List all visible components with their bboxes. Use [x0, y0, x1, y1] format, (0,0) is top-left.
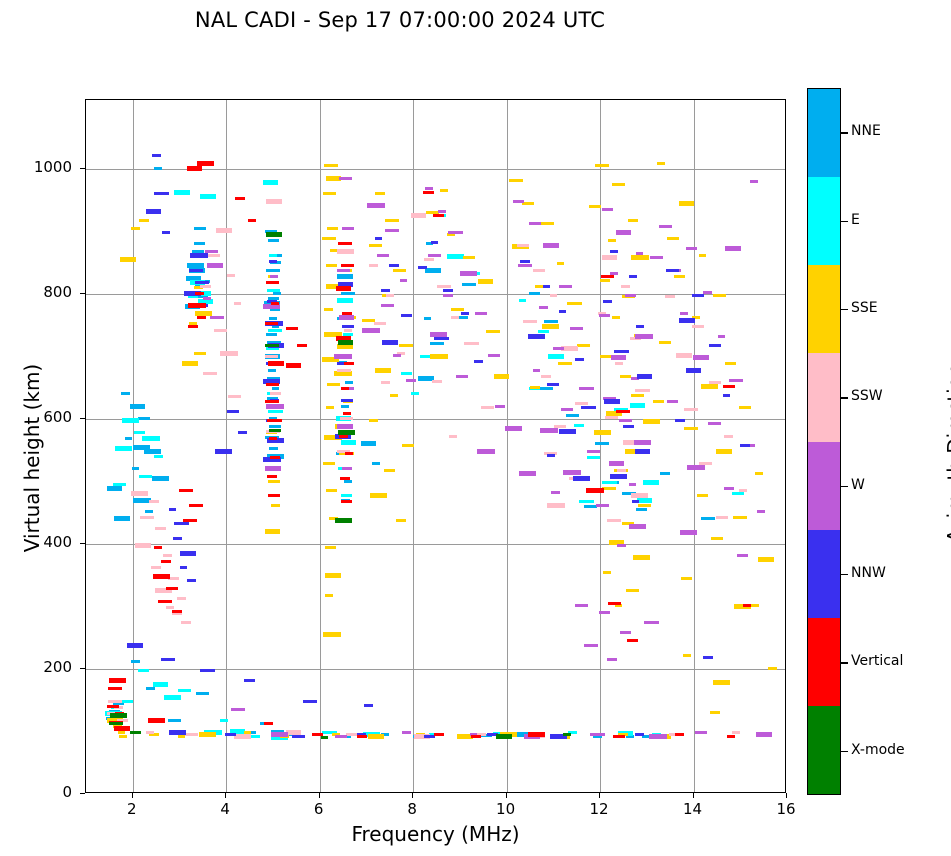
- echo-point: [131, 660, 140, 663]
- echo-point: [179, 489, 193, 492]
- echo-point: [733, 516, 747, 519]
- y-axis-tick: [80, 418, 85, 419]
- echo-point: [182, 361, 198, 366]
- echo-point: [268, 494, 280, 497]
- echo-point: [264, 722, 273, 725]
- echo-point: [370, 493, 387, 498]
- echo-point: [579, 387, 594, 390]
- echo-point: [342, 325, 354, 328]
- colorbar-segment-ssw: [808, 353, 840, 441]
- echo-point: [396, 519, 406, 522]
- echo-point: [220, 719, 228, 722]
- echo-point: [341, 292, 355, 295]
- echo-point: [113, 483, 126, 486]
- echo-point: [703, 656, 713, 659]
- colorbar-tick: [841, 662, 848, 663]
- echo-point: [589, 205, 601, 208]
- colorbar-tick: [841, 309, 848, 310]
- echo-point: [269, 429, 281, 432]
- echo-point: [620, 631, 631, 634]
- echo-point: [434, 337, 449, 340]
- echo-point: [140, 516, 154, 519]
- echo-point: [461, 312, 469, 315]
- echo-point: [228, 395, 241, 398]
- echo-point: [194, 227, 206, 230]
- echo-point: [609, 461, 624, 466]
- colorbar-label-e: E: [851, 212, 860, 228]
- echo-point: [631, 394, 644, 397]
- echo-point: [362, 328, 380, 333]
- echo-point: [732, 492, 744, 495]
- x-axis-tick-label: 12: [579, 800, 619, 818]
- echo-point: [119, 735, 127, 738]
- echo-point: [631, 255, 649, 260]
- echo-point: [649, 734, 667, 739]
- echo-point: [543, 285, 550, 288]
- echo-point: [369, 419, 378, 422]
- x-axis-title: Frequency (MHz): [85, 822, 786, 846]
- scatter-canvas: [86, 100, 785, 792]
- colorbar-segment-nnw: [808, 530, 840, 618]
- echo-point: [406, 379, 416, 382]
- echo-point: [675, 733, 684, 736]
- echo-point: [723, 394, 730, 397]
- echo-point: [227, 410, 239, 413]
- echo-point: [399, 344, 413, 347]
- echo-point: [345, 452, 353, 455]
- echo-point: [474, 360, 483, 363]
- echo-point: [336, 286, 351, 291]
- azimuth-colorbar: [807, 88, 841, 795]
- echo-point: [716, 449, 732, 454]
- echo-point: [602, 481, 617, 484]
- echo-point: [326, 264, 337, 267]
- echo-point: [265, 355, 278, 358]
- echo-point: [145, 510, 153, 513]
- echo-point: [666, 269, 679, 272]
- echo-point: [268, 480, 280, 483]
- echo-point: [166, 587, 178, 590]
- echo-point: [695, 731, 707, 734]
- echo-point: [180, 566, 187, 569]
- echo-point: [323, 192, 336, 195]
- echo-point: [434, 733, 444, 736]
- echo-point: [713, 294, 726, 297]
- echo-point: [601, 275, 614, 278]
- echo-point: [528, 334, 545, 339]
- echo-point: [635, 449, 650, 454]
- echo-point: [755, 472, 763, 475]
- echo-point: [238, 431, 247, 434]
- echo-point: [108, 687, 122, 690]
- echo-point: [603, 571, 611, 574]
- echo-point: [563, 470, 581, 475]
- echo-point: [424, 258, 434, 261]
- echo-point: [448, 231, 463, 234]
- echo-point: [189, 504, 203, 507]
- echo-point: [675, 419, 685, 422]
- echo-point: [107, 705, 119, 708]
- echo-point: [161, 560, 171, 563]
- echo-point: [321, 736, 328, 739]
- echo-point: [683, 654, 691, 657]
- echo-point: [268, 329, 282, 332]
- echo-point: [600, 279, 610, 282]
- echo-point: [341, 387, 349, 390]
- echo-point: [337, 274, 353, 279]
- echo-point: [194, 352, 206, 355]
- echo-point: [575, 358, 584, 361]
- echo-point: [153, 682, 168, 687]
- colorbar-tick: [841, 751, 848, 752]
- echo-point: [737, 554, 748, 557]
- echo-point: [267, 419, 282, 422]
- echo-point: [303, 700, 317, 703]
- echo-point: [729, 379, 743, 382]
- echo-point: [334, 354, 352, 359]
- echo-point: [402, 444, 414, 447]
- echo-point: [220, 351, 238, 356]
- echo-point: [623, 425, 634, 428]
- echo-point: [381, 304, 394, 307]
- echo-point: [586, 488, 604, 493]
- echo-point: [146, 687, 155, 690]
- echo-point: [411, 213, 426, 218]
- echo-point: [679, 201, 694, 206]
- echo-point: [541, 375, 551, 378]
- echo-point: [451, 308, 464, 311]
- echo-point: [739, 489, 747, 492]
- echo-point: [643, 419, 660, 424]
- echo-point: [268, 239, 279, 242]
- chart-title: NAL CADI - Sep 17 07:00:00 2024 UTC: [0, 8, 800, 32]
- echo-point: [603, 300, 612, 303]
- echo-point: [326, 406, 334, 409]
- echo-point: [727, 735, 735, 738]
- y-axis-tick: [80, 168, 85, 169]
- echo-point: [659, 341, 671, 344]
- echo-point: [134, 431, 145, 434]
- echo-point: [337, 249, 354, 254]
- echo-point: [740, 444, 750, 447]
- echo-point: [341, 399, 353, 402]
- echo-point: [463, 256, 475, 259]
- echo-point: [146, 731, 154, 734]
- echo-point: [400, 279, 407, 282]
- echo-point: [628, 219, 638, 222]
- echo-point: [326, 489, 337, 492]
- echo-point: [120, 257, 136, 262]
- x-axis-tick-label: 2: [112, 800, 152, 818]
- echo-point: [711, 537, 723, 540]
- echo-point: [263, 180, 278, 185]
- echo-point: [440, 189, 448, 192]
- echo-point: [758, 557, 774, 562]
- echo-point: [533, 269, 545, 272]
- echo-point: [644, 621, 659, 624]
- echo-point: [164, 695, 181, 700]
- echo-point: [551, 491, 560, 494]
- echo-point: [114, 516, 130, 521]
- echo-point: [297, 344, 307, 347]
- echo-point: [382, 340, 398, 345]
- echo-point: [269, 254, 277, 257]
- echo-point: [343, 412, 351, 415]
- echo-point: [268, 410, 283, 413]
- y-axis-tick-label: 1000: [0, 158, 72, 176]
- echo-point: [142, 436, 160, 441]
- echo-point: [152, 154, 161, 157]
- echo-point: [494, 374, 509, 379]
- echo-point: [638, 504, 651, 507]
- echo-point: [438, 210, 446, 213]
- echo-point: [339, 315, 354, 320]
- echo-point: [271, 732, 288, 737]
- echo-point: [344, 362, 354, 365]
- echo-point: [693, 355, 709, 360]
- echo-point: [372, 462, 380, 465]
- colorbar-label-x-mode: X-mode: [851, 742, 905, 758]
- echo-point: [114, 726, 130, 731]
- echo-point: [135, 543, 151, 548]
- y-axis-tick-label: 400: [0, 533, 72, 551]
- echo-point: [199, 732, 216, 737]
- echo-point: [650, 256, 663, 259]
- colorbar-label-nne: NNE: [851, 123, 881, 139]
- echo-point: [460, 271, 477, 276]
- echo-point: [268, 361, 284, 366]
- colorbar-tick: [841, 397, 848, 398]
- echo-point: [335, 518, 352, 523]
- y-axis-tick-label: 200: [0, 658, 72, 676]
- echo-point: [616, 410, 630, 413]
- echo-point: [267, 289, 280, 292]
- echo-point: [377, 254, 389, 257]
- echo-point: [636, 508, 647, 511]
- echo-point: [610, 250, 618, 253]
- echo-point: [163, 554, 172, 557]
- echo-point: [390, 394, 398, 397]
- echo-point: [108, 700, 122, 703]
- echo-point: [561, 346, 578, 351]
- echo-point: [286, 363, 301, 368]
- echo-point: [270, 275, 278, 278]
- echo-point: [659, 225, 672, 228]
- echo-point: [674, 275, 685, 278]
- echo-point: [269, 447, 278, 450]
- y-axis-tick-label: 800: [0, 283, 72, 301]
- echo-point: [637, 374, 652, 379]
- colorbar-label-sse: SSE: [851, 300, 878, 316]
- echo-point: [425, 187, 433, 190]
- echo-point: [266, 269, 280, 272]
- echo-point: [203, 372, 217, 375]
- echo-point: [338, 430, 355, 435]
- echo-point: [138, 417, 150, 420]
- echo-point: [177, 597, 186, 600]
- echo-point: [180, 551, 196, 556]
- echo-point: [188, 325, 198, 328]
- echo-point: [617, 469, 626, 472]
- echo-point: [132, 467, 139, 470]
- echo-point: [605, 416, 618, 419]
- echo-point: [341, 440, 356, 445]
- echo-point: [595, 442, 609, 445]
- echo-point: [710, 711, 720, 714]
- echo-point: [325, 573, 341, 578]
- echo-point: [542, 324, 559, 329]
- x-axis-tick: [132, 793, 133, 798]
- x-axis-tick: [786, 793, 787, 798]
- echo-point: [342, 312, 352, 315]
- echo-point: [505, 426, 522, 431]
- echo-point: [561, 408, 573, 411]
- gridline-horizontal: [86, 669, 785, 670]
- echo-point: [115, 446, 132, 451]
- echo-point: [271, 504, 280, 507]
- echo-point: [462, 283, 476, 286]
- echo-point: [368, 734, 384, 739]
- echo-point: [529, 222, 541, 225]
- echo-point: [614, 350, 629, 353]
- echo-point: [687, 465, 705, 470]
- echo-point: [430, 354, 448, 359]
- echo-point: [660, 472, 670, 475]
- echo-point: [271, 302, 279, 305]
- echo-point: [634, 440, 651, 445]
- echo-point: [553, 347, 564, 350]
- colorbar-label-vertical: Vertical: [851, 653, 903, 669]
- echo-point: [632, 500, 639, 503]
- echo-point: [559, 429, 576, 434]
- echo-point: [265, 400, 279, 403]
- echo-point: [381, 289, 390, 292]
- echo-point: [344, 480, 352, 483]
- echo-point: [684, 427, 698, 430]
- echo-point: [443, 294, 453, 297]
- echo-point: [697, 494, 708, 497]
- echo-point: [227, 274, 235, 277]
- echo-point: [265, 344, 279, 347]
- echo-point: [200, 285, 211, 288]
- echo-point: [131, 491, 148, 496]
- x-axis-tick: [599, 793, 600, 798]
- echo-point: [424, 317, 431, 320]
- echo-point: [615, 362, 623, 365]
- echo-point: [547, 454, 555, 457]
- echo-point: [577, 344, 590, 347]
- echo-point: [401, 314, 412, 317]
- colorbar-label-ssw: SSW: [851, 388, 883, 404]
- echo-point: [708, 422, 721, 425]
- echo-point: [566, 414, 579, 417]
- echo-point: [599, 611, 610, 614]
- echo-point: [187, 579, 196, 582]
- echo-point: [533, 369, 540, 372]
- echo-point: [385, 229, 399, 232]
- echo-point: [225, 733, 236, 736]
- echo-point: [579, 500, 594, 503]
- echo-point: [699, 254, 706, 257]
- echo-point: [381, 381, 390, 384]
- echo-point: [428, 254, 441, 257]
- echo-point: [248, 219, 256, 222]
- echo-point: [430, 332, 447, 337]
- x-axis-tick-label: 4: [205, 800, 245, 818]
- echo-point: [530, 386, 540, 389]
- echo-point: [486, 330, 500, 333]
- x-axis-tick-label: 14: [673, 800, 713, 818]
- echo-point: [196, 692, 209, 695]
- echo-point: [629, 275, 637, 278]
- echo-point: [692, 325, 704, 328]
- echo-point: [559, 310, 566, 313]
- echo-point: [432, 380, 442, 383]
- echo-point: [207, 263, 223, 268]
- echo-point: [540, 428, 558, 433]
- echo-point: [195, 292, 204, 295]
- echo-point: [385, 219, 399, 222]
- echo-point: [369, 244, 382, 247]
- echo-point: [523, 320, 537, 323]
- echo-point: [144, 449, 161, 454]
- gridline-horizontal: [86, 544, 785, 545]
- echo-point: [653, 400, 664, 403]
- echo-point: [154, 192, 169, 195]
- echo-point: [768, 667, 777, 670]
- echo-point: [375, 368, 391, 373]
- x-axis-tick: [693, 793, 694, 798]
- echo-point: [599, 314, 610, 317]
- gridline-vertical: [320, 100, 321, 792]
- echo-point: [265, 466, 281, 471]
- y-axis-tick: [80, 793, 85, 794]
- echo-point: [418, 266, 427, 269]
- echo-point: [267, 475, 277, 478]
- echo-point: [322, 237, 336, 240]
- echo-point: [626, 589, 639, 592]
- echo-point: [602, 487, 616, 490]
- echo-point: [447, 254, 464, 259]
- echo-point: [266, 404, 284, 409]
- colorbar-segment-vertical: [808, 618, 840, 706]
- echo-point: [324, 164, 338, 167]
- echo-point: [334, 371, 352, 376]
- echo-point: [200, 194, 216, 199]
- x-axis-tick: [319, 793, 320, 798]
- echo-point: [109, 722, 123, 725]
- echo-point: [718, 335, 725, 338]
- echo-point: [266, 232, 282, 237]
- echo-point: [139, 219, 149, 222]
- echo-point: [361, 441, 376, 446]
- echo-point: [367, 203, 385, 208]
- echo-point: [138, 669, 149, 672]
- echo-point: [369, 264, 378, 267]
- echo-point: [197, 316, 206, 319]
- echo-point: [724, 487, 734, 490]
- echo-point: [166, 606, 174, 609]
- echo-point: [345, 381, 353, 384]
- echo-point: [266, 347, 279, 350]
- echo-point: [723, 385, 735, 388]
- echo-point: [625, 294, 636, 297]
- echo-point: [543, 243, 559, 248]
- echo-point: [509, 179, 523, 182]
- echo-point: [680, 312, 688, 315]
- echo-point: [339, 177, 352, 180]
- echo-point: [131, 227, 140, 230]
